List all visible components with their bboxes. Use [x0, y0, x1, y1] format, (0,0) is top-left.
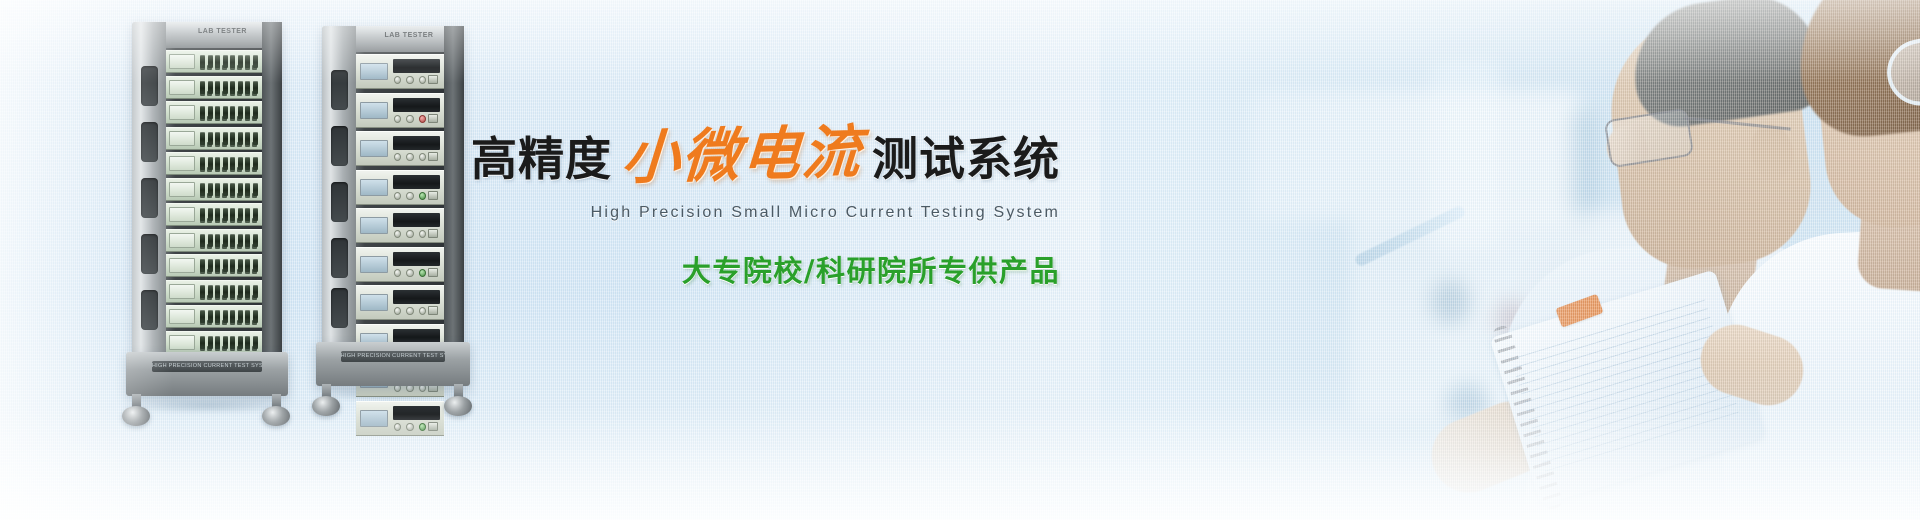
- product-banner: LAB TESTER: [0, 0, 1920, 520]
- rack-modules: [166, 48, 262, 352]
- channel-card: [166, 127, 262, 150]
- channel-card: [166, 76, 262, 99]
- instrument-panel: [356, 208, 444, 243]
- instrument-panel: [356, 93, 444, 128]
- instrument-panel: [356, 170, 444, 205]
- headline: 高精度 小微电流 测试系统: [520, 126, 1060, 184]
- photo-bottom-fade: [1100, 0, 1920, 520]
- equipment-racks: LAB TESTER: [0, 0, 520, 520]
- rack-instrument-panels: LAB TESTER: [322, 26, 464, 342]
- channel-card: [166, 152, 262, 175]
- headline-prefix: 高精度: [471, 136, 612, 182]
- headline-suffix: 测试系统: [872, 136, 1060, 182]
- rack-base-plate: HIGH PRECISION CURRENT TEST SYSTEM: [341, 351, 446, 362]
- lab-photo: [1100, 0, 1920, 520]
- rack-frame: LAB TESTER: [322, 26, 464, 342]
- rack-base-plate: HIGH PRECISION CURRENT TEST SYSTEM: [152, 361, 262, 372]
- rack-left-post: [132, 22, 166, 352]
- rack-base: HIGH PRECISION CURRENT TEST SYSTEM: [126, 352, 288, 396]
- banner-copy: 高精度 小微电流 测试系统 High Precision Small Micro…: [520, 126, 1060, 290]
- rack-base: HIGH PRECISION CURRENT TEST SYSTEM: [316, 342, 470, 386]
- channel-card: [166, 229, 262, 252]
- rack-base-label: HIGH PRECISION CURRENT TEST SYSTEM: [152, 361, 262, 372]
- rack-base-label: HIGH PRECISION CURRENT TEST SYSTEM: [341, 351, 446, 362]
- subtitle-english: High Precision Small Micro Current Testi…: [520, 204, 1060, 222]
- channel-card: [166, 280, 262, 303]
- headline-highlight: 小微电流: [620, 123, 864, 187]
- rack-left-post: [322, 26, 356, 342]
- rack-right-post: [444, 26, 464, 342]
- channel-card: [166, 178, 262, 201]
- rack-right-post: [262, 22, 282, 352]
- instrument-panel: [356, 247, 444, 282]
- caster-right: [444, 384, 474, 414]
- channel-card: [166, 331, 262, 354]
- instrument-panel: [356, 54, 444, 89]
- subtitle-chinese: 大专院校/科研院所专供产品: [520, 248, 1060, 290]
- channel-card: [166, 203, 262, 226]
- instrument-panel: [356, 401, 444, 436]
- caster-right: [262, 394, 292, 424]
- rack-brand-label: LAB TESTER: [198, 28, 247, 35]
- channel-card: [166, 254, 262, 277]
- instrument-panel: [356, 131, 444, 166]
- rack-frame: LAB TESTER: [132, 22, 282, 352]
- instrument-panel: [356, 285, 444, 320]
- rack-green-channel-cards: LAB TESTER: [132, 22, 282, 352]
- rack-brand-label: LAB TESTER: [384, 32, 433, 39]
- channel-card: [166, 101, 262, 124]
- channel-card: [166, 305, 262, 328]
- channel-card: [166, 50, 262, 73]
- caster-left: [122, 394, 152, 424]
- caster-left: [312, 384, 342, 414]
- rack-modules: [356, 52, 444, 342]
